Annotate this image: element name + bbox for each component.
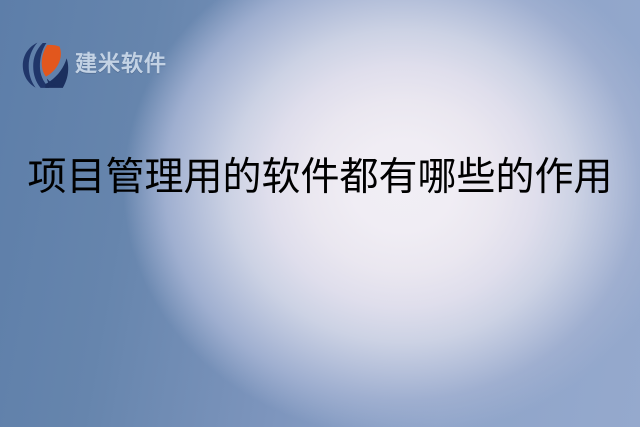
page-title: 项目管理用的软件都有哪些的作用: [0, 152, 640, 204]
brand-logo-text: 建米软件: [75, 54, 167, 76]
jianmi-logo-mark-icon: [22, 41, 69, 89]
brand-logo[interactable]: 建米软件: [22, 41, 167, 89]
banner-image: 建米软件 项目管理用的软件都有哪些的作用: [0, 0, 640, 427]
